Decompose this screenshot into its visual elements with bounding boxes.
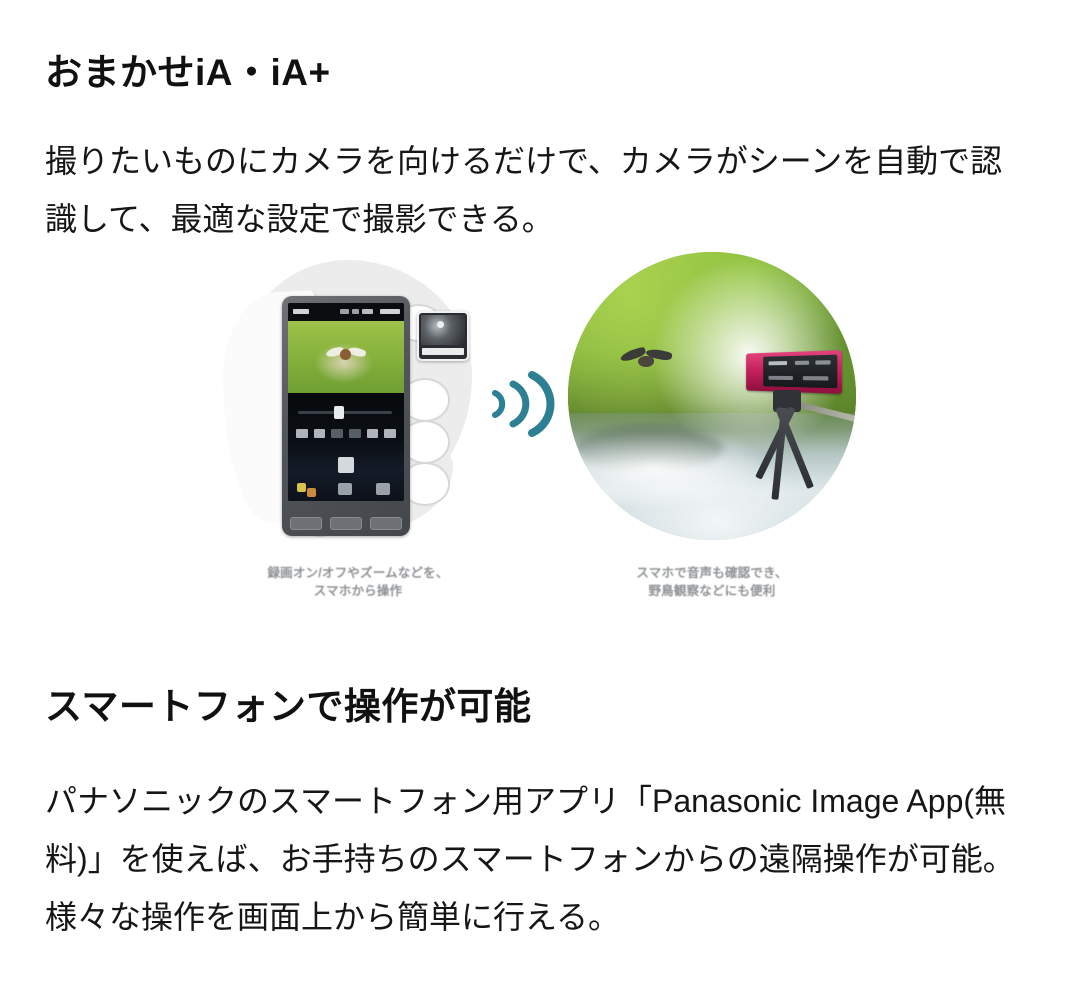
caption-left: 録画オン/オフやズームなどを、 スマホから操作: [233, 564, 483, 600]
live-view-preview: [288, 321, 404, 393]
status-chip: [362, 309, 373, 314]
page-root: おまかせiA・iA+ 撮りたいものにカメラを向けるだけで、カメラがシーンを自動で…: [0, 0, 1080, 1007]
body-text-smartphone: パナソニックのスマートフォン用アプリ「Panasonic Image App(無…: [45, 772, 1030, 946]
nature-photo-circle: [568, 252, 856, 540]
caption-left-line2: スマホから操作: [233, 582, 483, 600]
zoom-slider-knob[interactable]: [334, 406, 344, 419]
smartphone-device: [282, 296, 410, 536]
zoom-slider-track[interactable]: [298, 411, 392, 414]
indicator-dot: [297, 483, 306, 492]
caption-right: スマホで音声も確認でき、 野鳥観察などにも便利: [592, 564, 832, 600]
compact-camera: [746, 351, 842, 395]
status-chip: [293, 309, 309, 314]
bird-icon: [326, 346, 366, 362]
camera-thumbnail-badge: [417, 311, 469, 361]
status-chip: [380, 309, 400, 314]
feature-illustration: 録画オン/オフやズームなどを、 スマホから操作 スマホで音声も確認でき、 野鳥観…: [0, 232, 1080, 632]
badge-highlight: [437, 321, 444, 328]
hardware-key-home[interactable]: [330, 517, 362, 530]
caption-right-line1: スマホで音声も確認でき、: [592, 564, 832, 582]
lcd-element: [815, 361, 830, 365]
hardware-key-row: [290, 517, 402, 530]
control-row-top: [296, 429, 396, 438]
page-title-smartphone: スマートフォンで操作が可能: [45, 687, 531, 728]
badge-image: [421, 315, 465, 345]
caption-left-line1: 録画オン/オフやズームなどを、: [233, 564, 483, 582]
status-chip: [340, 309, 349, 314]
mode-button[interactable]: [338, 483, 352, 495]
control-button[interactable]: [349, 429, 361, 438]
body-text-ia: 撮りたいものにカメラを向けるだけで、カメラがシーンを自動で認識して、最適な設定で…: [45, 132, 1030, 248]
lcd-element: [803, 376, 828, 380]
camera-tripod-rig: [735, 338, 856, 540]
shutter-button[interactable]: [338, 457, 354, 473]
hardware-key-back[interactable]: [290, 517, 322, 530]
control-button[interactable]: [296, 429, 308, 438]
page-title-ia: おまかせiA・iA+: [45, 53, 331, 94]
control-button[interactable]: [384, 429, 396, 438]
lcd-element: [795, 361, 809, 365]
status-bar: [288, 303, 404, 321]
remote-control-panel: [288, 393, 404, 501]
hardware-key-menu[interactable]: [370, 517, 402, 530]
status-chip: [352, 309, 359, 314]
badge-caption-bar: [422, 348, 464, 355]
control-button[interactable]: [367, 429, 379, 438]
bird-body: [638, 356, 654, 367]
camera-lcd-screen: [763, 355, 837, 389]
caption-right-line2: 野鳥観察などにも便利: [592, 582, 832, 600]
lcd-element: [769, 361, 788, 365]
smartphone-screen: [288, 303, 404, 501]
flying-bird: [620, 350, 672, 370]
bird-body: [340, 349, 351, 360]
tripod-rail: [798, 402, 856, 429]
control-button[interactable]: [331, 429, 343, 438]
mode-button[interactable]: [376, 483, 390, 495]
wifi-waves-icon: [485, 360, 555, 440]
indicator-dot: [307, 488, 316, 497]
control-button[interactable]: [314, 429, 326, 438]
lcd-element: [769, 376, 793, 380]
